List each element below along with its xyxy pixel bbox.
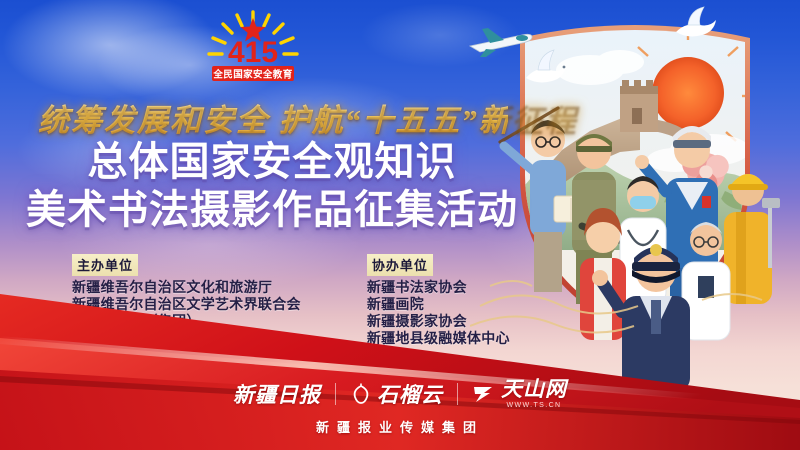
emblem-number: 415 [228, 36, 278, 69]
brand-name: 天山网 [501, 379, 567, 400]
page-title: 总体国家安全观知识 美术书法摄影作品征集活动 [22, 140, 522, 233]
brand-name: 石榴云 [377, 379, 443, 409]
brand-shiliuyun: 石榴云 [350, 379, 443, 409]
police-badge-icon [650, 244, 662, 256]
dove-icon [520, 48, 572, 92]
tianshan-mark-icon [472, 383, 496, 405]
flag-patch-icon [702, 196, 711, 208]
brand-url: WWW.TS.CN [507, 402, 562, 409]
poster-canvas: 415 全民国家安全教育 统筹发展和安全 护航“十五五”新征程 总体国家安全观知… [0, 0, 800, 450]
host-label: 主办单位 [72, 254, 138, 276]
face-mask-icon [630, 196, 656, 209]
divider [457, 383, 458, 405]
divider [335, 383, 336, 405]
emblem-caption: 全民国家安全教育 [212, 69, 292, 81]
pomegranate-icon [350, 383, 372, 405]
title-line-1: 总体国家安全观知识 [22, 140, 522, 185]
media-group-name: 新疆报业传媒集团 [0, 417, 800, 436]
calligraphy-slogan: 统筹发展和安全 护航“十五五”新征程 [38, 96, 508, 138]
national-security-education-emblem: 415 全民国家安全教育 [198, 8, 308, 88]
title-line-2: 美术书法摄影作品征集活动 [22, 188, 522, 233]
cohost-label: 协办单位 [367, 254, 433, 276]
brand-tianshan-net: 天山网 WWW.TS.CN [472, 379, 567, 409]
dove-icon [672, 6, 720, 46]
brand-name: 新疆日报 [233, 379, 321, 409]
footer-brand-bar: 新疆日报 石榴云 天山网 WWW.TS.CN [0, 376, 800, 412]
brand-xinjiang-daily: 新疆日报 [233, 379, 321, 409]
rising-sun-icon [652, 57, 724, 129]
